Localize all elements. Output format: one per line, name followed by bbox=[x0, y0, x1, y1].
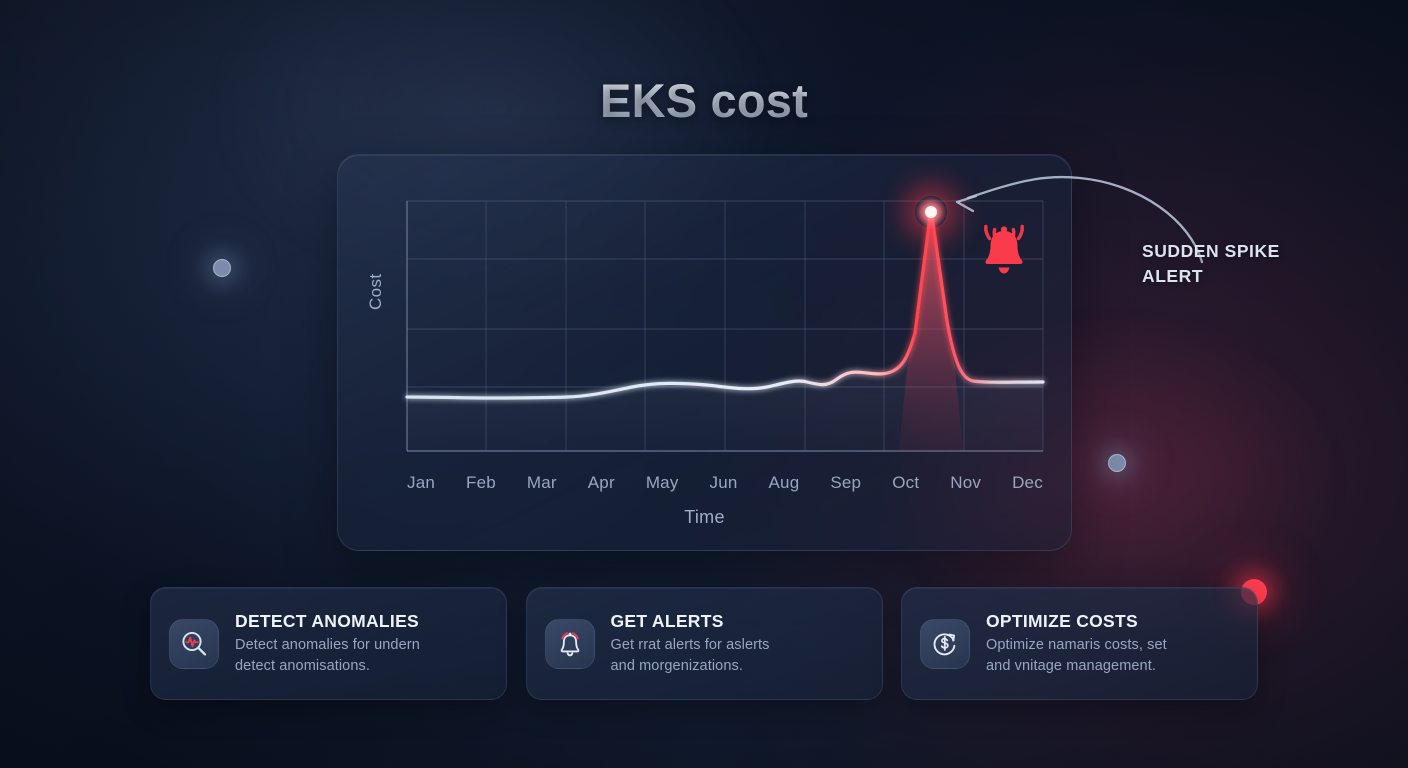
card-title: DETECT ANOMALIES bbox=[235, 611, 420, 632]
annotation-line-1: SUDDEN SPIKE bbox=[1142, 239, 1342, 264]
x-tick-may: May bbox=[646, 473, 679, 493]
spike-core bbox=[925, 206, 937, 218]
annotation-sudden-spike-alert: SUDDEN SPIKE ALERT bbox=[1142, 239, 1342, 289]
x-tick-oct: Oct bbox=[892, 473, 919, 493]
card-description-line-2: and vnitage management. bbox=[986, 656, 1167, 677]
decorative-dot-right bbox=[1108, 454, 1126, 472]
x-tick-apr: Apr bbox=[588, 473, 615, 493]
glow-dot-icon bbox=[1108, 454, 1126, 472]
card-description: Detect anomalies for undern detect anomi… bbox=[235, 635, 420, 676]
ringing-bell-glyph bbox=[555, 629, 585, 659]
card-text-block: OPTIMIZE COSTS Optimize namaris costs, s… bbox=[986, 611, 1167, 676]
ringing-bell-icon bbox=[545, 619, 595, 669]
card-description-line-2: detect anomisations. bbox=[235, 656, 420, 677]
card-description: Optimize namaris costs, set and vnitage … bbox=[986, 635, 1167, 676]
chart-x-tick-labels: Jan Feb Mar Apr May Jun Aug Sep Oct Nov … bbox=[407, 473, 1043, 493]
x-tick-dec: Dec bbox=[1012, 473, 1043, 493]
x-tick-aug: Aug bbox=[769, 473, 800, 493]
card-text-block: DETECT ANOMALIES Detect anomalies for un… bbox=[235, 611, 420, 676]
magnifier-pulse-icon bbox=[169, 619, 219, 669]
card-description-line-1: Get rrat alerts for aslerts bbox=[611, 635, 770, 656]
card-optimize-costs[interactable]: OPTIMIZE COSTS Optimize namaris costs, s… bbox=[901, 587, 1258, 700]
y-axis-label: Cost bbox=[366, 273, 386, 310]
x-axis-label: Time bbox=[338, 507, 1071, 528]
decorative-dot-left bbox=[213, 259, 231, 277]
card-detect-anomalies[interactable]: DETECT ANOMALIES Detect anomalies for un… bbox=[150, 587, 507, 700]
card-description-line-1: Optimize namaris costs, set bbox=[986, 635, 1167, 656]
magnifier-pulse-glyph bbox=[179, 629, 209, 659]
annotation-line-2: ALERT bbox=[1142, 264, 1342, 289]
dollar-refresh-icon bbox=[920, 619, 970, 669]
x-tick-sep: Sep bbox=[830, 473, 861, 493]
page-title: EKS cost bbox=[0, 73, 1408, 128]
feature-cards-row: DETECT ANOMALIES Detect anomalies for un… bbox=[150, 587, 1258, 700]
x-tick-mar: Mar bbox=[527, 473, 557, 493]
glow-dot-icon bbox=[213, 259, 231, 277]
card-description-line-1: Detect anomalies for undern bbox=[235, 635, 420, 656]
card-title: GET ALERTS bbox=[611, 611, 770, 632]
x-tick-nov: Nov bbox=[950, 473, 981, 493]
card-text-block: GET ALERTS Get rrat alerts for aslerts a… bbox=[611, 611, 770, 676]
card-description-line-2: and morgenizations. bbox=[611, 656, 770, 677]
x-tick-jan: Jan bbox=[407, 473, 435, 493]
card-description: Get rrat alerts for aslerts and morgeniz… bbox=[611, 635, 770, 676]
x-tick-feb: Feb bbox=[466, 473, 496, 493]
card-title: OPTIMIZE COSTS bbox=[986, 611, 1167, 632]
dollar-refresh-glyph bbox=[930, 629, 960, 659]
card-get-alerts[interactable]: GET ALERTS Get rrat alerts for aslerts a… bbox=[526, 587, 883, 700]
x-tick-jun: Jun bbox=[710, 473, 738, 493]
